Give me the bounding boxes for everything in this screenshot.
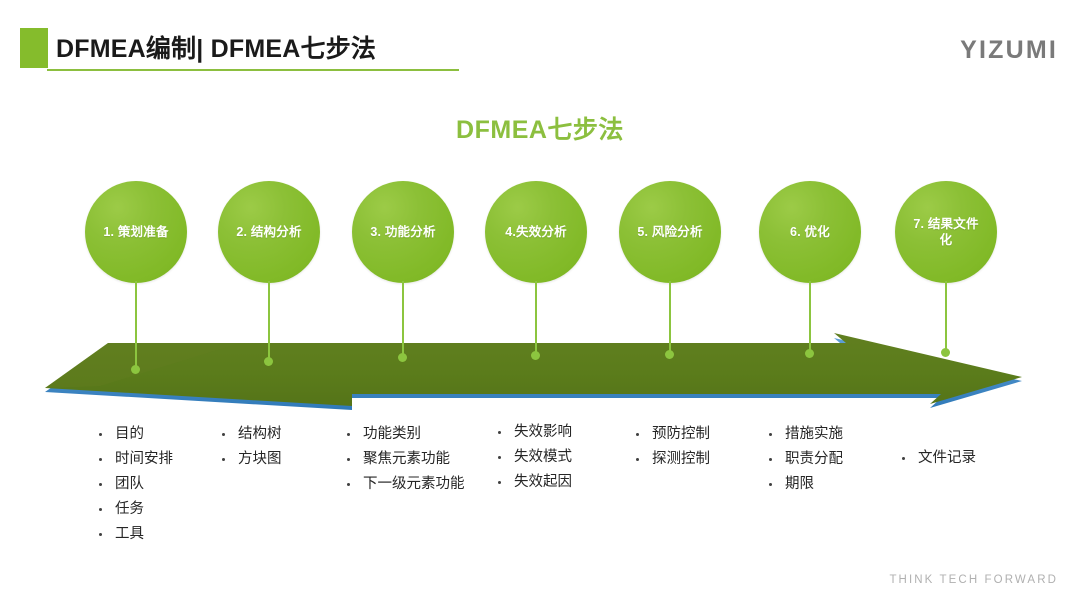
bullet-column-4: 失效影响 失效模式 失效起因 [494,420,572,495]
list-item: 结构树 [218,422,282,447]
list-item: 目的 [95,422,173,447]
step-stem-5 [669,281,671,355]
step-circle-4[interactable]: 4.失效分析 [485,181,587,283]
step-stem-7 [945,281,947,353]
step-label-7: 7. 结果文件化 [895,216,997,248]
step-dot-3 [398,353,407,362]
step-dot-1 [131,365,140,374]
step-circle-7[interactable]: 7. 结果文件化 [895,181,997,283]
step-label-6: 6. 优化 [776,224,844,240]
step-circle-6[interactable]: 6. 优化 [759,181,861,283]
page-title: DFMEA编制| DFMEA七步法 [56,29,376,65]
list-item: 聚焦元素功能 [343,447,465,472]
list-item: 失效模式 [494,445,572,470]
list-item: 措施实施 [765,422,843,447]
list-item: 职责分配 [765,447,843,472]
bullet-column-1: 目的 时间安排 团队 任务 工具 [95,422,173,547]
bullet-column-3: 功能类别 聚焦元素功能 下一级元素功能 [343,422,465,497]
list-item: 失效影响 [494,420,572,445]
list-item: 工具 [95,522,173,547]
step-dot-6 [805,349,814,358]
step-stem-6 [809,281,811,354]
step-dot-7 [941,348,950,357]
slide-canvas: DFMEA编制| DFMEA七步法 YIZUMI DFMEA七步法 [0,0,1080,598]
step-circle-2[interactable]: 2. 结构分析 [218,181,320,283]
step-dot-4 [531,351,540,360]
header-underline [47,69,459,71]
bullet-column-5: 预防控制 探测控制 [632,422,710,472]
list-item: 方块图 [218,447,282,472]
step-dot-2 [264,357,273,366]
step-circle-5[interactable]: 5. 风险分析 [619,181,721,283]
list-item: 预防控制 [632,422,710,447]
step-stem-4 [535,281,537,356]
step-stem-2 [268,281,270,362]
step-stem-3 [402,281,404,358]
list-item: 下一级元素功能 [343,472,465,497]
list-item: 文件记录 [898,446,976,471]
step-label-2: 2. 结构分析 [222,224,315,240]
step-label-4: 4.失效分析 [491,224,581,240]
bullet-column-2: 结构树 方块图 [218,422,282,472]
bullet-column-6: 措施实施 职责分配 期限 [765,422,843,497]
step-label-3: 3. 功能分析 [356,224,449,240]
step-dot-5 [665,350,674,359]
brand-logo: YIZUMI [960,36,1058,65]
list-item: 期限 [765,472,843,497]
step-label-5: 5. 风险分析 [623,224,716,240]
step-circle-1[interactable]: 1. 策划准备 [85,181,187,283]
header-accent-square [20,28,48,68]
bullet-column-7: 文件记录 [898,446,976,471]
list-item: 失效起因 [494,470,572,495]
list-item: 任务 [95,497,173,522]
list-item: 功能类别 [343,422,465,447]
list-item: 探测控制 [632,447,710,472]
step-stem-1 [135,281,137,370]
footer-tagline: THINK TECH FORWARD [889,574,1058,586]
diagram-title: DFMEA七步法 [0,110,1080,146]
step-circle-3[interactable]: 3. 功能分析 [352,181,454,283]
list-item: 团队 [95,472,173,497]
step-label-1: 1. 策划准备 [89,224,182,240]
list-item: 时间安排 [95,447,173,472]
